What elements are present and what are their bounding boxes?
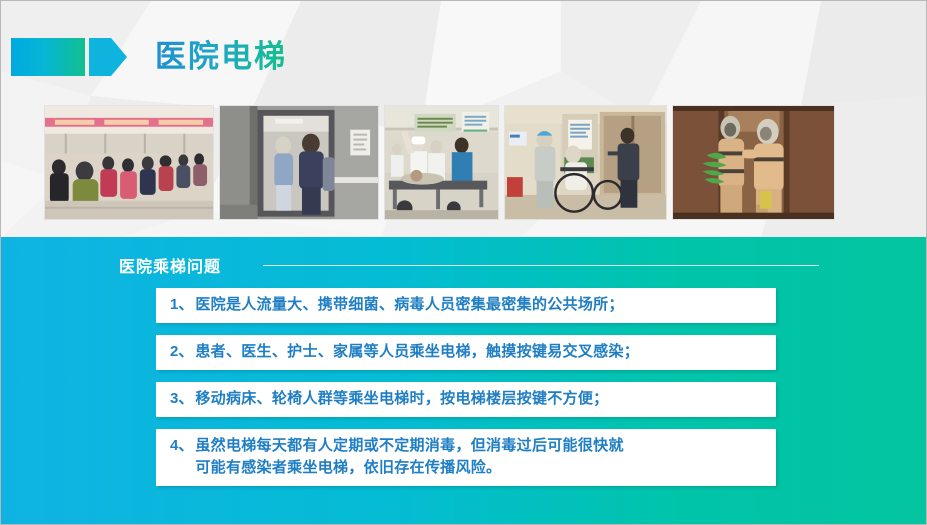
- waiting-hall-illustration: [45, 106, 213, 220]
- list-item-line1: 患者、医生、护士、家属等人员乘坐电梯，触摸按键易交叉感染；: [195, 343, 639, 360]
- list-item-number: 2、: [170, 341, 193, 363]
- list-item-line1: 虽然电梯每天都有人定期或不定期消毒，但消毒过后可能很快就: [195, 437, 623, 454]
- issues-panel: 医院乘梯问题 1、 医院是人流量大、携带细菌、病毒人员密集最密集的公共场所； 2…: [1, 237, 927, 525]
- title-row: 医院电梯: [1, 35, 287, 79]
- list-item[interactable]: 3、 移动病床、轮椅人群等乘坐电梯时，按电梯楼层按键不方便；: [156, 382, 776, 417]
- page-title: 医院电梯: [155, 37, 287, 77]
- section-heading-label: 医院乘梯问题: [119, 253, 221, 277]
- list-item[interactable]: 1、 医院是人流量大、携带细菌、病毒人员密集最密集的公共场所；: [156, 288, 776, 323]
- photo-hospital-waiting-hall-crowd: [44, 105, 214, 220]
- list-item-line1: 医院是人流量大、携带细菌、病毒人员密集最密集的公共场所；: [195, 296, 623, 313]
- list-item-text: 患者、医生、护士、家属等人员乘坐电梯，触摸按键易交叉感染；: [195, 341, 639, 363]
- list-item[interactable]: 2、 患者、医生、护士、家属等人员乘坐电梯，触摸按键易交叉感染；: [156, 335, 776, 370]
- issues-list: 1、 医院是人流量大、携带细菌、病毒人员密集最密集的公共场所； 2、 患者、医生…: [156, 288, 776, 498]
- photo-strip: [44, 105, 835, 220]
- list-item-text: 医院是人流量大、携带细菌、病毒人员密集最密集的公共场所；: [195, 294, 623, 316]
- list-item-number: 4、: [170, 435, 193, 457]
- ppe-workers-illustration: [673, 106, 834, 220]
- list-item-number: 3、: [170, 388, 193, 410]
- elevator-entry-illustration: [220, 106, 378, 220]
- list-item-text: 移动病床、轮椅人群等乘坐电梯时，按电梯楼层按键不方便；: [195, 388, 608, 410]
- list-item-line1: 移动病床、轮椅人群等乘坐电梯时，按电梯楼层按键不方便；: [195, 390, 608, 407]
- photo-staff-entering-elevator: [219, 105, 379, 220]
- list-item-line2: 可能有感染者乘坐电梯，依旧存在传播风险。: [195, 457, 623, 479]
- title-arrow-icon: [89, 38, 127, 76]
- list-item-number: 1、: [170, 294, 193, 316]
- section-heading-row: 医院乘梯问题: [119, 253, 819, 277]
- section-heading-rule: [263, 265, 819, 266]
- title-tag-rectangle: [11, 38, 85, 76]
- slide-root: 医院电梯: [0, 0, 927, 525]
- list-item[interactable]: 4、 虽然电梯每天都有人定期或不定期消毒，但消毒过后可能很快就 可能有感染者乘坐…: [156, 429, 776, 486]
- gurney-illustration: [385, 106, 498, 219]
- slide-header-area: 医院电梯: [1, 1, 927, 237]
- photo-ppe-workers-in-elevator: [672, 105, 835, 220]
- list-item-text: 虽然电梯每天都有人定期或不定期消毒，但消毒过后可能很快就 可能有感染者乘坐电梯，…: [195, 435, 623, 479]
- photo-patient-on-gurney: [384, 105, 499, 220]
- photo-wheelchair-at-elevator: [504, 105, 667, 220]
- wheelchair-illustration: [505, 106, 666, 220]
